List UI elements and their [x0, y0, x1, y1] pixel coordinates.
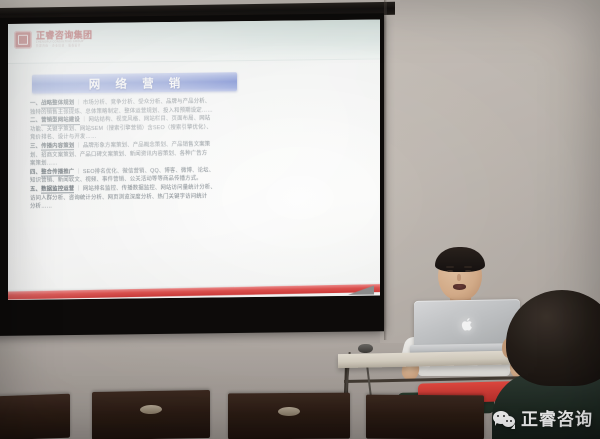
chair-back	[0, 394, 70, 439]
chair-back	[366, 395, 484, 439]
company-name-cn: 正睿咨询集团	[36, 31, 92, 41]
presenter-mouth	[453, 284, 466, 290]
slide-body: 一、战略整体规划｜市场分析、竞争分析、受众分析、品牌与产品分析、独特的销售主张提…	[30, 97, 248, 211]
slide-title: 网 络 营 销	[83, 74, 187, 91]
slide-title-banner: 网 络 营 销	[32, 72, 237, 94]
computer-mouse	[358, 344, 373, 353]
slide-line-heading: 数据监控运营	[41, 186, 74, 194]
slide-line-number: 四、	[30, 169, 41, 175]
slide-line-body: 竞价排名、设计与开发……	[30, 134, 97, 141]
company-logo: 正睿咨询集团 ZHENGRUI CONSULTING GROUP 管理咨询 · …	[14, 30, 92, 49]
slide-line-body: 市场分析、竞争分析、受众分析、品牌与产品分析、	[83, 99, 210, 107]
lecture-photograph: 正睿咨询集团 ZHENGRUI CONSULTING GROUP 管理咨询 · …	[0, 0, 600, 439]
company-logo-text: 正睿咨询集团 ZHENGRUI CONSULTING GROUP 管理咨询 · …	[36, 31, 92, 48]
slide-line-body: 网站结构、视觉风格、网站栏目、页面布局、网站	[88, 116, 210, 123]
slide-line-number: 五、	[30, 187, 41, 193]
slide-line-heading: 战略整体规划	[41, 100, 74, 108]
slide-line-body: 知识营销、新闻软文、视频、事件营销、公关活动等等商品传播方式。	[30, 176, 202, 184]
slide-line-body: 划、招商文案策划、产品口碑文案策划、新闻资讯内容策划、各种广告方	[30, 150, 207, 158]
presenter-hair	[435, 247, 485, 272]
presenter-eyebrow-right	[464, 266, 472, 268]
slide-line-body: 分析……	[30, 204, 52, 210]
audience-hair	[506, 290, 600, 386]
slide-line-body: SEO排名优化、微信营销、QQ、博客、微博、论坛、	[83, 167, 214, 175]
presentation-slide: 正睿咨询集团 ZHENGRUI CONSULTING GROUP 管理咨询 · …	[8, 19, 380, 300]
slide-line-separator: ｜	[74, 100, 83, 106]
wechat-icon	[493, 410, 516, 429]
slide-footer-triangle	[348, 286, 374, 295]
slide-line-body: 案策划……	[30, 161, 58, 167]
slide-line-body: 品牌形象方案策划、产品概念策划、产品销售文案策	[83, 141, 210, 149]
slide-line-heading: 营销型网站建设	[41, 117, 80, 125]
chair-badge	[278, 407, 300, 416]
projector-screen: 正睿咨询集团 ZHENGRUI CONSULTING GROUP 管理咨询 · …	[8, 19, 380, 300]
chair-badge	[140, 405, 162, 414]
presenter-nose	[457, 274, 461, 281]
slide-line-heading: 传播内容策划	[41, 143, 74, 151]
slide-line-separator: ｜	[74, 143, 83, 149]
chair-back	[92, 390, 210, 439]
slide-line-number: 三、	[30, 144, 41, 150]
slide-line-separator: ｜	[74, 169, 83, 175]
apple-logo	[461, 316, 474, 331]
chair-back	[228, 393, 350, 439]
slide-line-body: 网站排名监控、传播数据监控、网站访问量统计分析、	[83, 184, 216, 192]
company-tagline-cn: 管理咨询 · 企业培训 · 股权设计	[36, 45, 92, 48]
slide-line-number: 二、	[30, 118, 41, 124]
slide-line-body: 功能、关键字策划、网站SEM（搜索引擎营销）含SEO（搜索引擎优化）、	[30, 124, 212, 132]
slide-line-body: 访问人群分析、咨询统计分析、网页浏览深度分析、热门关键字访问统计	[30, 193, 207, 201]
wechat-watermark: 正睿咨询	[493, 410, 593, 429]
slide-line-number: 一、	[30, 101, 41, 107]
slide-line-separator: ｜	[74, 186, 83, 192]
presenter-eyebrow-left	[446, 266, 454, 268]
wall-corner	[384, 0, 387, 340]
watermark-text: 正睿咨询	[521, 411, 593, 428]
company-logo-mark	[14, 31, 32, 49]
